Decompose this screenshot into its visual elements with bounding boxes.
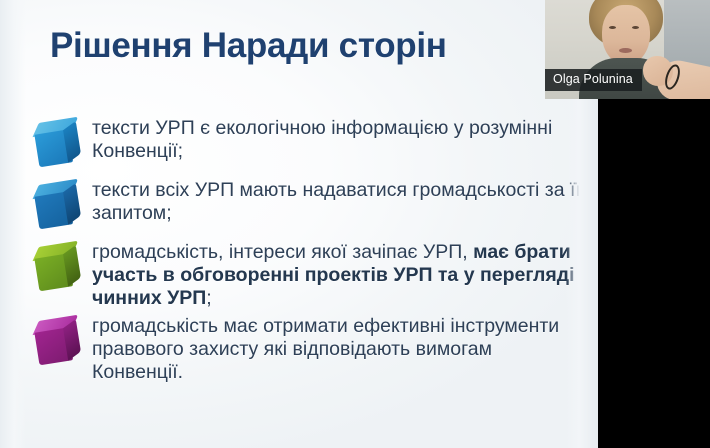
list-item-text: громадськість має отримати ефективні інс… <box>92 314 586 384</box>
text-segment: громадськість, інтереси якої зачіпає УРП… <box>92 241 473 263</box>
list-item: тексти УРП є екологічною інформацією у р… <box>30 116 586 174</box>
list-item-text: тексти УРП є екологічною інформацією у р… <box>92 116 586 163</box>
cube-icon-darkblue <box>30 180 92 236</box>
cube-icon-blue <box>30 118 92 174</box>
screen: Рішення Наради сторін тексти УРП є еколо… <box>0 0 710 448</box>
slide-title: Рішення Наради сторін <box>50 26 447 66</box>
participant-eye-left <box>609 26 616 29</box>
text-segment: громадськість має отримати ефективні інс… <box>92 315 559 383</box>
list-item: громадськість має отримати ефективні інс… <box>30 314 586 384</box>
video-participant-tile[interactable]: Olga Polunina <box>545 0 710 99</box>
participant-name-label: Olga Polunina <box>545 69 642 91</box>
list-item: громадськість, інтереси якої зачіпає УРП… <box>30 240 586 310</box>
text-segment: тексти УРП є екологічною інформацією у р… <box>92 117 552 162</box>
list-item: тексти всіх УРП мають надаватися громадс… <box>30 178 586 236</box>
presentation-slide: Рішення Наради сторін тексти УРП є еколо… <box>0 0 600 448</box>
list-item-text: тексти всіх УРП мають надаватися громадс… <box>92 178 586 225</box>
text-segment: тексти всіх УРП мають надаватися громадс… <box>92 179 581 224</box>
empty-black-panel <box>598 99 710 448</box>
bullet-list: тексти УРП є екологічною інформацією у р… <box>30 116 586 388</box>
participant-eye-right <box>632 26 639 29</box>
text-segment: ; <box>206 287 211 309</box>
cube-icon-magenta <box>30 316 92 372</box>
participant-face <box>602 5 650 65</box>
participant-mouth <box>619 48 632 53</box>
cube-icon-green <box>30 242 92 298</box>
list-item-text: громадськість, інтереси якої зачіпає УРП… <box>92 240 586 310</box>
